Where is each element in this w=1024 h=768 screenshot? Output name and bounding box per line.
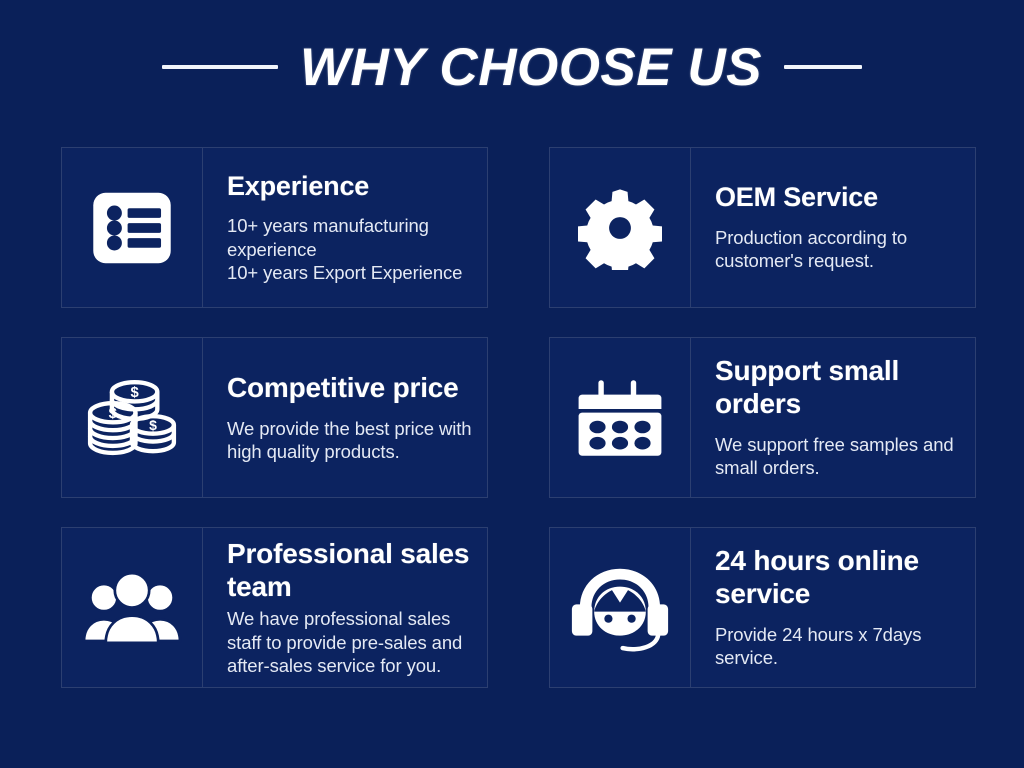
card-orders-icon-cell bbox=[550, 338, 691, 497]
card-support-small-orders[interactable]: Support small orders We support free sam… bbox=[549, 337, 976, 498]
card-experience-desc: 10+ years manufacturing experience 10+ y… bbox=[227, 214, 479, 284]
header: WHY CHOOSE US bbox=[0, 34, 1024, 100]
card-service-desc: Provide 24 hours x 7days service. bbox=[715, 623, 967, 670]
card-team-title: Professional sales team bbox=[227, 538, 479, 604]
card-orders-body: Support small orders We support free sam… bbox=[691, 338, 975, 497]
page-title: WHY CHOOSE US bbox=[300, 41, 762, 94]
why-choose-us-slide: WHY CHOOSE US Experience 10+ years manuf… bbox=[0, 0, 1024, 768]
card-orders-desc: We support free samples and small orders… bbox=[715, 433, 967, 480]
card-service-body: 24 hours online service Provide 24 hours… bbox=[691, 528, 975, 687]
title-rule-left bbox=[162, 65, 278, 69]
card-oem-service[interactable]: OEM Service Production according to cust… bbox=[549, 147, 976, 308]
headset-support-icon bbox=[570, 558, 670, 658]
card-service-title: 24 hours online service bbox=[715, 545, 967, 611]
card-24-hours-online-service[interactable]: 24 hours online service Provide 24 hours… bbox=[549, 527, 976, 688]
card-team-desc: We have professional sales staff to prov… bbox=[227, 607, 479, 677]
card-experience-icon-cell bbox=[62, 148, 203, 307]
card-competitive-price[interactable]: $ $ $ Competitive price We provide the b… bbox=[61, 337, 488, 498]
list-icon bbox=[82, 178, 182, 278]
card-price-body: Competitive price We provide the best pr… bbox=[203, 338, 487, 497]
card-service-icon-cell bbox=[550, 528, 691, 687]
card-team-icon-cell bbox=[62, 528, 203, 687]
svg-text:$: $ bbox=[149, 417, 157, 433]
card-experience-body: Experience 10+ years manufacturing exper… bbox=[203, 148, 487, 307]
card-professional-sales-team[interactable]: Professional sales team We have professi… bbox=[61, 527, 488, 688]
card-oem-title: OEM Service bbox=[715, 182, 967, 214]
card-oem-desc: Production according to customer's reque… bbox=[715, 226, 967, 273]
card-team-body: Professional sales team We have professi… bbox=[203, 528, 487, 687]
gear-icon bbox=[570, 178, 670, 278]
card-experience-title: Experience bbox=[227, 171, 479, 203]
card-orders-title: Support small orders bbox=[715, 355, 967, 421]
svg-text:$: $ bbox=[130, 385, 139, 401]
card-price-title: Competitive price bbox=[227, 372, 479, 405]
card-oem-icon-cell bbox=[550, 148, 691, 307]
coins-icon: $ $ $ bbox=[82, 368, 182, 468]
title-rule-right bbox=[784, 65, 862, 69]
card-oem-body: OEM Service Production according to cust… bbox=[691, 148, 975, 307]
card-price-desc: We provide the best price with high qual… bbox=[227, 417, 479, 464]
svg-text:$: $ bbox=[109, 406, 118, 422]
card-price-icon-cell: $ $ $ bbox=[62, 338, 203, 497]
card-experience[interactable]: Experience 10+ years manufacturing exper… bbox=[61, 147, 488, 308]
calendar-icon bbox=[570, 368, 670, 468]
people-group-icon bbox=[82, 558, 182, 658]
